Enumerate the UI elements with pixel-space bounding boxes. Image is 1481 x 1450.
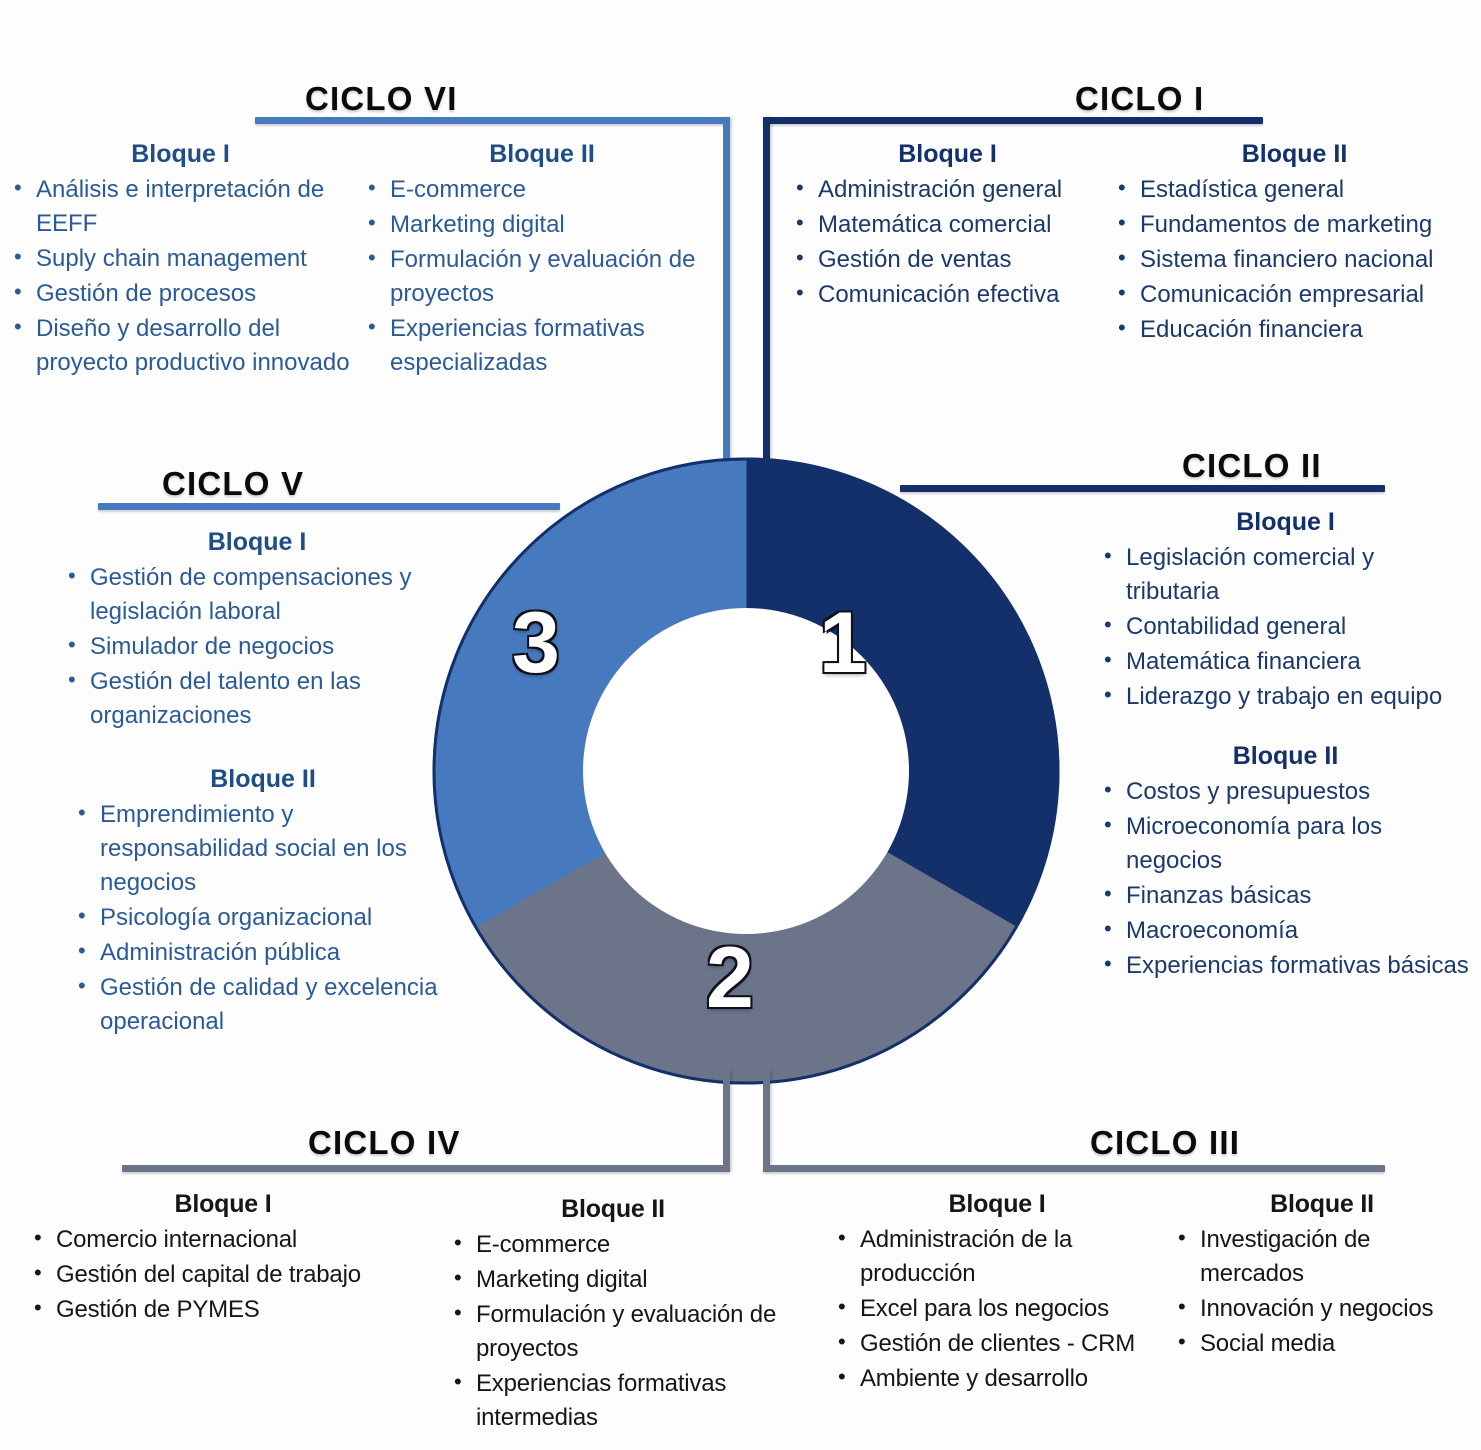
list-item: Formulación y evaluación de proyectos <box>448 1298 778 1366</box>
list-item: Gestión de procesos <box>8 277 353 311</box>
ciclo-i-bloque-1-list: Administración general Matemática comerc… <box>790 173 1105 312</box>
list-item: Excel para los negocios <box>832 1292 1162 1326</box>
list-item: Gestión de compensaciones y legislación … <box>62 561 452 629</box>
list-item: Administración general <box>790 173 1105 207</box>
list-item: Sistema financiero nacional <box>1112 243 1477 277</box>
ciclo-i-rule <box>763 117 1263 124</box>
ciclo-iii-rule <box>763 1165 1385 1172</box>
list-item: Marketing digital <box>362 208 722 242</box>
list-item: Gestión del capital de trabajo <box>28 1258 418 1292</box>
donut-label-3: 3 <box>512 600 560 686</box>
block-title: Bloque I <box>8 140 353 169</box>
ciclo-vi-bloque-2: Bloque II E-commerce Marketing digital F… <box>362 140 722 381</box>
ciclo-vi-bloque-2-list: E-commerce Marketing digital Formulación… <box>362 173 722 380</box>
ciclo-vi-rule <box>255 117 730 124</box>
ciclo-iv-bloque-1-list: Comercio internacional Gestión del capit… <box>28 1223 418 1327</box>
list-item: Comunicación empresarial <box>1112 278 1477 312</box>
list-item: Innovación y negocios <box>1172 1292 1472 1326</box>
list-item: Fundamentos de marketing <box>1112 208 1477 242</box>
list-item: Legislación comercial y tributaria <box>1098 541 1473 609</box>
list-item: Ambiente y desarrollo <box>832 1362 1162 1396</box>
list-item: Social media <box>1172 1327 1472 1361</box>
list-item: Administración pública <box>72 936 454 970</box>
ciclo-ii-title: CICLO II <box>1182 447 1322 485</box>
ciclo-iii-connector-stem <box>763 1070 770 1172</box>
ciclo-i-connector-stem <box>763 117 770 465</box>
block-title: Bloque II <box>1172 1190 1472 1219</box>
ciclo-ii-bloque-2: Bloque II Costos y presupuestos Microeco… <box>1098 742 1473 984</box>
ciclo-ii-bloque-1: Bloque I Legislación comercial y tributa… <box>1098 508 1473 715</box>
list-item: Análisis e interpretación de EEFF <box>8 173 353 241</box>
list-item: Comunicación efectiva <box>790 278 1105 312</box>
list-item: Finanzas básicas <box>1098 879 1473 913</box>
block-title: Bloque II <box>1112 140 1477 169</box>
ciclo-iii-title: CICLO III <box>1090 1124 1240 1162</box>
ciclo-v-bloque-1: Bloque I Gestión de compensaciones y leg… <box>62 528 452 734</box>
list-item: Experiencias formativas básicas <box>1098 949 1473 983</box>
list-item: Macroeconomía <box>1098 914 1473 948</box>
block-title: Bloque I <box>790 140 1105 169</box>
curriculum-cycle-infographic: CICLO VI Bloque I Análisis e interpretac… <box>0 0 1481 1450</box>
list-item: Gestión del talento en las organizacione… <box>62 665 452 733</box>
list-item: Contabilidad general <box>1098 610 1473 644</box>
ciclo-vi-bloque-1: Bloque I Análisis e interpretación de EE… <box>8 140 353 381</box>
ciclo-iv-bloque-2-list: E-commerce Marketing digital Formulación… <box>448 1228 778 1435</box>
list-item: Gestión de clientes - CRM <box>832 1327 1162 1361</box>
ciclo-v-bloque-2-list: Emprendimiento y responsabilidad social … <box>72 798 454 1040</box>
list-item: Microeconomía para los negocios <box>1098 810 1473 878</box>
list-item: Educación financiera <box>1112 313 1477 347</box>
list-item: Psicología organizacional <box>72 901 454 935</box>
ciclo-iii-bloque-2-list: Investigación de mercados Innovación y n… <box>1172 1223 1472 1361</box>
ciclo-vi-connector-stem <box>723 117 730 465</box>
list-item: Suply chain management <box>8 242 353 276</box>
list-item: E-commerce <box>362 173 722 207</box>
block-title: Bloque I <box>28 1190 418 1219</box>
ciclo-iii-bloque-1-list: Administración de la producción Excel pa… <box>832 1223 1162 1396</box>
list-item: Matemática financiera <box>1098 645 1473 679</box>
ciclo-v-bloque-1-list: Gestión de compensaciones y legislación … <box>62 561 452 733</box>
list-item: Marketing digital <box>448 1263 778 1297</box>
ciclo-vi-bloque-1-list: Análisis e interpretación de EEFF Suply … <box>8 173 353 380</box>
block-title: Bloque I <box>62 528 452 557</box>
list-item: Experiencias formativas intermedias <box>448 1367 778 1435</box>
list-item: Gestión de ventas <box>790 243 1105 277</box>
block-title: Bloque II <box>72 765 454 794</box>
list-item: E-commerce <box>448 1228 778 1262</box>
ciclo-i-title: CICLO I <box>1075 80 1204 118</box>
list-item: Estadística general <box>1112 173 1477 207</box>
block-title: Bloque II <box>362 140 722 169</box>
ciclo-iv-connector-stem <box>723 1070 730 1172</box>
ciclo-ii-bloque-2-list: Costos y presupuestos Microeconomía para… <box>1098 775 1473 983</box>
block-title: Bloque II <box>1098 742 1473 771</box>
ciclo-ii-bloque-1-list: Legislación comercial y tributaria Conta… <box>1098 541 1473 714</box>
cycle-donut-chart: 1 2 3 <box>430 455 1062 1087</box>
ciclo-v-bloque-2: Bloque II Emprendimiento y responsabilid… <box>72 765 454 1041</box>
list-item: Formulación y evaluación de proyectos <box>362 243 722 311</box>
ciclo-i-bloque-1: Bloque I Administración general Matemáti… <box>790 140 1105 313</box>
ciclo-i-bloque-2: Bloque II Estadística general Fundamento… <box>1112 140 1477 348</box>
ciclo-iii-bloque-1: Bloque I Administración de la producción… <box>832 1190 1162 1397</box>
ciclo-vi-title: CICLO VI <box>305 80 458 118</box>
list-item: Gestión de calidad y excelencia operacio… <box>72 971 454 1039</box>
ciclo-iv-rule <box>122 1165 730 1172</box>
list-item: Diseño y desarrollo del proyecto product… <box>8 312 353 380</box>
donut-label-2: 2 <box>706 935 754 1021</box>
list-item: Gestión de PYMES <box>28 1293 418 1327</box>
ciclo-iv-title: CICLO IV <box>308 1124 461 1162</box>
list-item: Emprendimiento y responsabilidad social … <box>72 798 454 900</box>
donut-label-1: 1 <box>819 600 867 686</box>
block-title: Bloque I <box>832 1190 1162 1219</box>
list-item: Matemática comercial <box>790 208 1105 242</box>
ciclo-v-title: CICLO V <box>162 465 304 503</box>
block-title: Bloque I <box>1098 508 1473 537</box>
list-item: Costos y presupuestos <box>1098 775 1473 809</box>
ciclo-iv-bloque-1: Bloque I Comercio internacional Gestión … <box>28 1190 418 1328</box>
ciclo-iv-bloque-2: Bloque II E-commerce Marketing digital F… <box>448 1195 778 1436</box>
list-item: Experiencias formativas especializadas <box>362 312 722 380</box>
list-item: Liderazgo y trabajo en equipo <box>1098 680 1473 714</box>
list-item: Investigación de mercados <box>1172 1223 1472 1291</box>
list-item: Administración de la producción <box>832 1223 1162 1291</box>
ciclo-iii-bloque-2: Bloque II Investigación de mercados Inno… <box>1172 1190 1472 1362</box>
list-item: Comercio internacional <box>28 1223 418 1257</box>
list-item: Simulador de negocios <box>62 630 452 664</box>
block-title: Bloque II <box>448 1195 778 1224</box>
ciclo-i-bloque-2-list: Estadística general Fundamentos de marke… <box>1112 173 1477 347</box>
